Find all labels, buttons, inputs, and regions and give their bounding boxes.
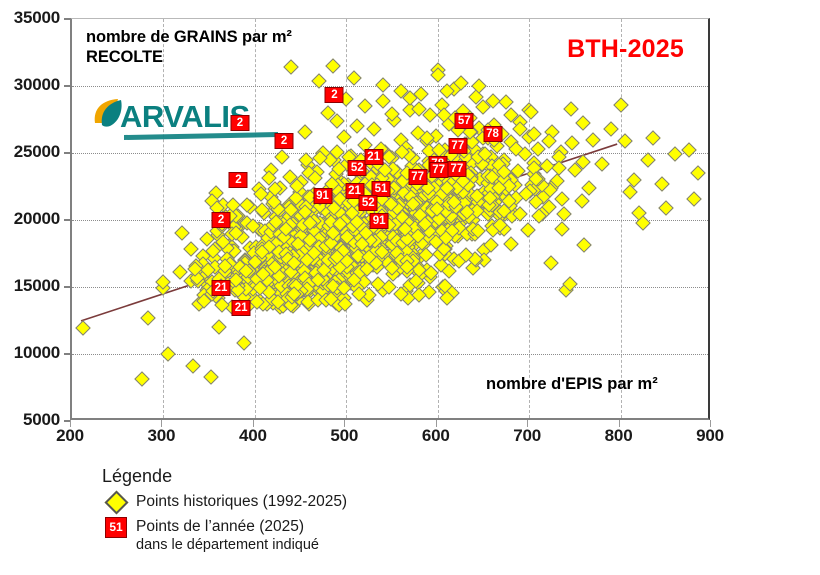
department-marker: 2: [212, 212, 231, 228]
legend-row-year: 51 Points de l’année (2025) dans le dépa…: [96, 516, 516, 555]
x-axis-tick-label: 500: [330, 426, 358, 446]
y-axis-tick-mark: [64, 18, 71, 20]
department-marker: 52: [359, 195, 378, 211]
x-axis-tick-label: 300: [148, 426, 176, 446]
x-axis-tick-label: 200: [56, 426, 84, 446]
department-marker: 77: [429, 162, 448, 178]
y-axis-tick-label: 35000: [14, 8, 60, 28]
y-axis-tick-mark: [64, 219, 71, 221]
legend: Légende Points historiques (1992-2025) 5…: [96, 466, 516, 558]
legend-label-year-main: Points de l’année (2025): [136, 518, 304, 535]
department-marker: 21: [232, 300, 251, 316]
y-axis-tick-label: 15000: [14, 276, 60, 296]
x-axis-tick-label: 600: [422, 426, 450, 446]
department-marker: 77: [447, 161, 466, 177]
department-marker: 77: [408, 169, 427, 185]
department-marker: 21: [364, 149, 383, 165]
red-square-icon-text: 51: [105, 517, 127, 538]
department-marker: 91: [370, 213, 389, 229]
x-axis-tick-label: 900: [696, 426, 724, 446]
page-title: BTH-2025: [567, 35, 684, 64]
arvalis-logo: ARVALIS: [90, 97, 286, 143]
legend-label-year-sub: dans le département indiqué: [136, 536, 319, 554]
legend-title: Légende: [102, 466, 516, 487]
x-axis-tick-label: 400: [239, 426, 267, 446]
department-marker: 21: [212, 280, 231, 296]
arvalis-logo-svg: ARVALIS: [90, 97, 286, 143]
department-marker: 2: [229, 172, 248, 188]
department-marker: 77: [448, 138, 467, 154]
x-axis-tick-mark: [161, 420, 162, 427]
y-axis-tick-label: 25000: [14, 142, 60, 162]
x-axis-tick-mark: [710, 420, 711, 427]
yellow-diamond-icon: [96, 491, 136, 513]
x-axis-tick-label: 700: [513, 426, 541, 446]
plot-area: 2222212191522121515291777877777757782 no…: [70, 18, 710, 420]
y-axis-tick-label: 10000: [14, 343, 60, 363]
y-axis-tick-label: 5000: [23, 410, 60, 430]
x-axis-tick-mark: [527, 420, 528, 427]
legend-row-historic: Points historiques (1992-2025): [96, 491, 516, 513]
x-axis-tick-mark: [253, 420, 254, 427]
x-axis-tick-label: 800: [605, 426, 633, 446]
department-markers-layer: 2222212191522121515291777877777757782: [72, 19, 708, 418]
chart-root: 2222212191522121515291777877777757782 no…: [0, 0, 820, 575]
department-marker: 78: [483, 126, 502, 142]
y-axis-tick-mark: [64, 152, 71, 154]
x-axis-tick-mark: [619, 420, 620, 427]
x-axis-tick-mark: [344, 420, 345, 427]
x-axis-tick-mark: [436, 420, 437, 427]
department-marker: 2: [275, 133, 294, 149]
y-axis-tick-label: 30000: [14, 75, 60, 95]
department-marker: 57: [455, 113, 474, 129]
department-marker: 2: [231, 115, 250, 131]
legend-label-year: Points de l’année (2025) dans le départe…: [136, 516, 319, 555]
x-axis-tick-mark: [70, 420, 71, 427]
red-square-icon: 51: [96, 516, 136, 538]
y-axis-label: nombre de GRAINS par m² RECOLTE: [86, 27, 292, 67]
y-axis-tick-mark: [64, 85, 71, 87]
legend-label-historic: Points historiques (1992-2025): [136, 491, 347, 511]
y-axis-tick-label: 20000: [14, 209, 60, 229]
x-axis-label: nombre d'EPIS par m²: [486, 375, 658, 394]
y-axis-label-line1: nombre de GRAINS par m²: [86, 27, 292, 47]
y-axis-tick-mark: [64, 353, 71, 355]
department-marker: 91: [313, 188, 332, 204]
y-axis-tick-mark: [64, 286, 71, 288]
y-axis-label-line2: RECOLTE: [86, 47, 292, 67]
department-marker: 2: [325, 87, 344, 103]
